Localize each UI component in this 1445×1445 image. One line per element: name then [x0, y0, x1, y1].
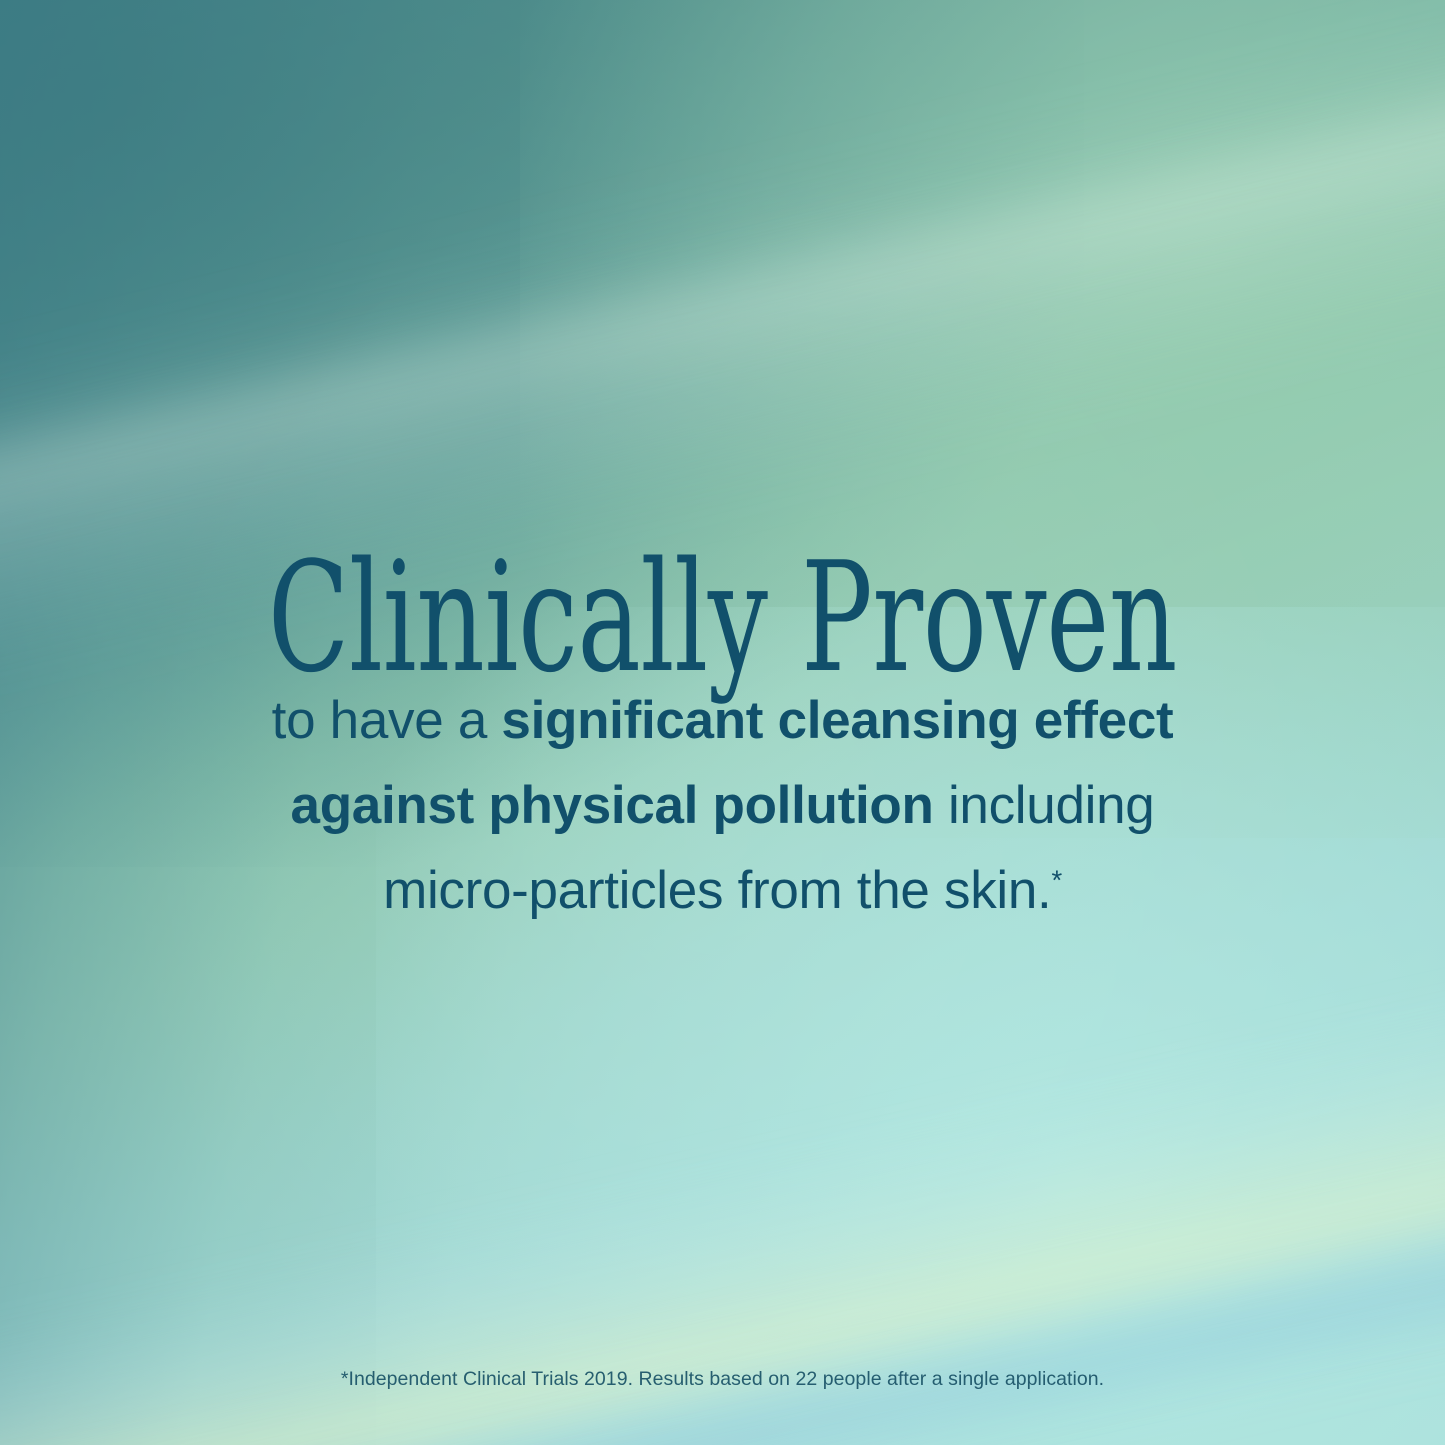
body-copy: to have a significant cleansing effect a…	[0, 678, 1445, 933]
body-copy-line-2: against physical pollution including	[0, 763, 1445, 848]
content-layer: Clinically Proven to have a significant …	[0, 0, 1445, 1445]
body-copy-line-1-emphasis: significant cleansing effect	[501, 691, 1173, 750]
body-copy-line-2-tail: including	[934, 776, 1155, 835]
body-copy-line-1-lead: to have a	[272, 691, 502, 750]
clinically-proven-banner: Clinically Proven to have a significant …	[0, 0, 1445, 1445]
body-copy-line-1: to have a significant cleansing effect	[0, 678, 1445, 763]
body-copy-line-3: micro-particles from the skin.*	[0, 848, 1445, 933]
page-title: Clinically Proven	[217, 542, 1229, 694]
footnote-text: *Independent Clinical Trials 2019. Resul…	[0, 1368, 1445, 1391]
footnote-marker: *	[1051, 864, 1061, 895]
body-copy-line-2-emphasis: against physical pollution	[291, 776, 934, 835]
body-copy-line-3-text: micro-particles from the skin.	[383, 861, 1051, 920]
